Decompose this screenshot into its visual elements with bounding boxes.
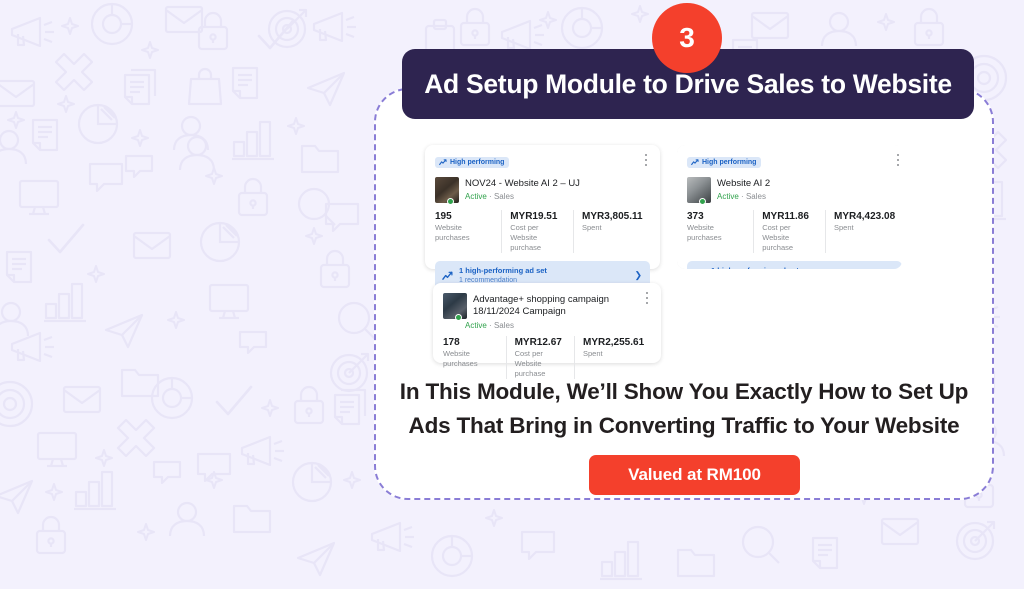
campaign-name: NOV24 - Website AI 2 – UJ [465, 178, 580, 190]
active-status-dot-icon [447, 198, 454, 205]
step-number-badge: 3 [652, 3, 722, 73]
trending-up-icon [694, 271, 705, 281]
stat-label: Website purchases [443, 349, 498, 369]
ads-manager-screenshot: High performing NOV24 - Website AI 2 – U… [425, 140, 925, 370]
campaign-thumbnail-wrap [687, 177, 711, 203]
trending-up-icon [442, 271, 453, 281]
kebab-menu-icon[interactable] [642, 292, 652, 304]
recommendation-subtitle: 1 recommendation [711, 276, 880, 286]
stat-spent: MYR2,255.61 Spent [575, 336, 651, 379]
stat-label: Cost per Website purchase [510, 223, 565, 253]
status-separator: · [489, 321, 492, 330]
stat-value: 195 [435, 210, 493, 223]
campaign-objective: Sales [494, 192, 514, 201]
status-separator: · [741, 192, 744, 201]
stat-value: 373 [687, 210, 745, 223]
module-description: In This Module, We’ll Show You Exactly H… [374, 375, 994, 443]
step-number: 3 [679, 24, 695, 52]
stat-website-purchases: 178 Website purchases [443, 336, 507, 379]
stat-label: Spent [583, 349, 643, 359]
campaign-status: Active [465, 192, 487, 201]
stat-label: Website purchases [687, 223, 745, 243]
campaign-status-row: Active · Sales [717, 191, 770, 202]
stat-value: MYR19.51 [510, 210, 565, 223]
status-separator: · [489, 192, 492, 201]
campaign-name: Advantage+ shopping campaign [473, 294, 609, 306]
ad-campaign-card[interactable]: Advantage+ shopping campaign 18/11/2024 … [433, 283, 661, 363]
stat-value: MYR3,805.11 [582, 210, 642, 223]
valued-at-button[interactable]: Valued at RM100 [589, 455, 800, 495]
stat-website-purchases: 373 Website purchases [687, 210, 754, 253]
stat-value: MYR11.86 [762, 210, 817, 223]
ad-campaign-card[interactable]: High performing Website AI 2 Active · Sa… [677, 145, 912, 269]
chevron-right-icon[interactable]: ❯ [634, 271, 642, 280]
stat-label: Website purchases [435, 223, 493, 243]
campaign-identity-row: Website AI 2 Active · Sales [687, 177, 902, 203]
description-line-2: Ads That Bring in Converting Traffic to … [374, 409, 994, 443]
campaign-thumbnail-wrap [435, 177, 459, 203]
stat-label: Spent [582, 223, 642, 233]
campaign-subname: 18/11/2024 Campaign [473, 306, 609, 318]
campaign-thumbnail-wrap [443, 293, 467, 319]
trending-up-icon [439, 159, 447, 166]
campaign-status-row: Active · Sales [465, 191, 580, 202]
trending-up-icon [691, 159, 699, 166]
kebab-menu-icon[interactable] [641, 154, 651, 166]
campaign-identity-row: NOV24 - Website AI 2 – UJ Active · Sales [435, 177, 650, 203]
recommendation-title: 1 high-performing ad set [459, 266, 628, 276]
stat-cost-per-purchase: MYR12.67 Cost per Website purchase [507, 336, 575, 379]
description-line-1: In This Module, We’ll Show You Exactly H… [374, 375, 994, 409]
active-status-dot-icon [699, 198, 706, 205]
recommendation-title: 1 high-performing ad set [711, 266, 880, 276]
stat-value: MYR2,255.61 [583, 336, 643, 349]
campaign-stats-row: 373 Website purchases MYR11.86 Cost per … [687, 210, 902, 253]
campaign-stats-row: 178 Website purchases MYR12.67 Cost per … [443, 336, 651, 379]
campaign-status: Active [465, 321, 487, 330]
stat-spent: MYR3,805.11 Spent [574, 210, 650, 253]
campaign-status: Active [717, 192, 739, 201]
stat-website-purchases: 195 Website purchases [435, 210, 502, 253]
stat-value: 178 [443, 336, 498, 349]
recommendation-banner[interactable]: 1 high-performing ad set 1 recommendatio… [687, 261, 902, 290]
campaign-stats-row: 195 Website purchases MYR19.51 Cost per … [435, 210, 650, 253]
campaign-name: Website AI 2 [717, 178, 770, 190]
active-status-dot-icon [455, 314, 462, 321]
stat-value: MYR12.67 [515, 336, 566, 349]
high-performing-label: High performing [450, 159, 504, 166]
high-performing-badge: High performing [435, 157, 509, 168]
stat-spent: MYR4,423.08 Spent [826, 210, 902, 253]
stat-cost-per-purchase: MYR11.86 Cost per Website purchase [754, 210, 826, 253]
high-performing-badge: High performing [687, 157, 761, 168]
page-title: Ad Setup Module to Drive Sales to Websit… [424, 69, 952, 100]
campaign-objective: Sales [746, 192, 766, 201]
stat-value: MYR4,423.08 [834, 210, 894, 223]
campaign-identity-row: Advantage+ shopping campaign 18/11/2024 … [443, 293, 651, 319]
stat-label: Cost per Website purchase [762, 223, 817, 253]
chevron-right-icon[interactable]: ❯ [886, 271, 894, 280]
kebab-menu-icon[interactable] [893, 154, 903, 166]
high-performing-label: High performing [702, 159, 756, 166]
stat-label: Spent [834, 223, 894, 233]
ad-campaign-card[interactable]: High performing NOV24 - Website AI 2 – U… [425, 145, 660, 269]
stat-cost-per-purchase: MYR19.51 Cost per Website purchase [502, 210, 574, 253]
campaign-status-row: Active · Sales [443, 320, 651, 331]
campaign-objective: Sales [494, 321, 514, 330]
